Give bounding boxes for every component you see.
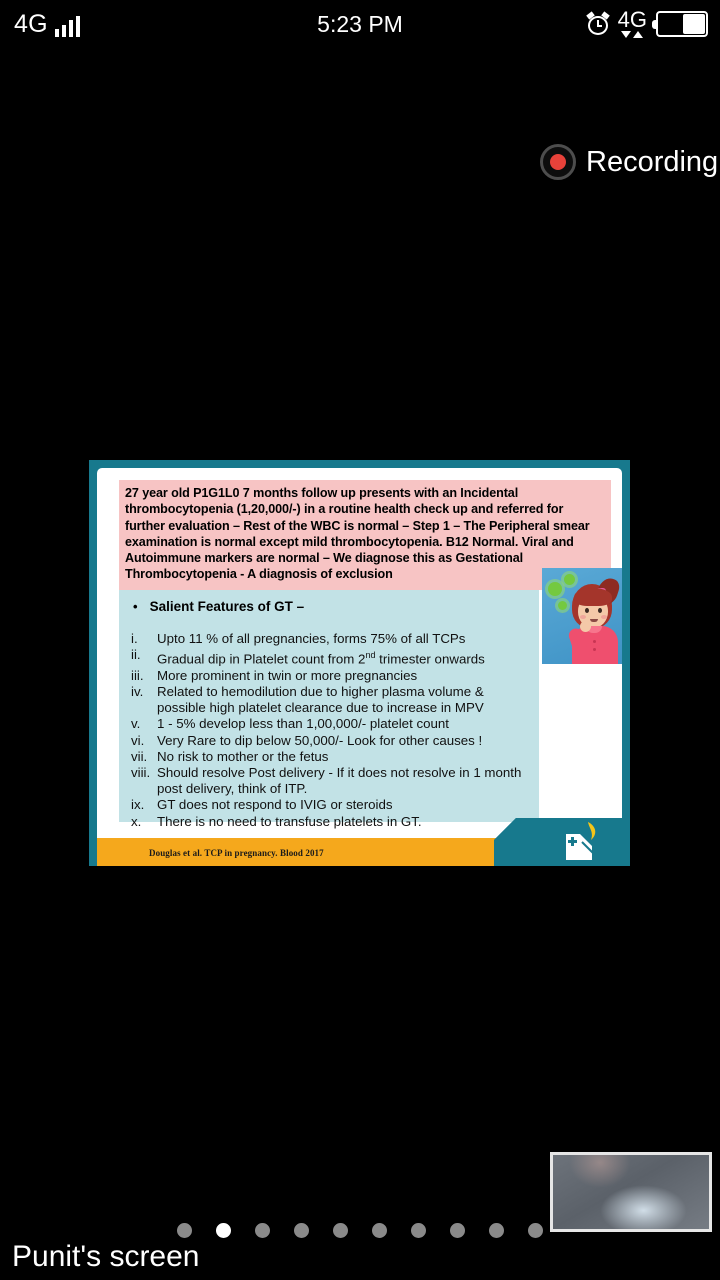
slide-header-text: 27 year old P1G1L0 7 months follow up pr… xyxy=(125,485,605,583)
page-dot[interactable] xyxy=(528,1223,543,1238)
page-dot[interactable] xyxy=(411,1223,426,1238)
list-item-text: More prominent in twin or more pregnanci… xyxy=(157,668,529,684)
list-item: i.Upto 11 % of all pregnancies, forms 75… xyxy=(129,631,529,647)
list-item: ii.Gradual dip in Platelet count from 2n… xyxy=(129,647,529,668)
list-item: vi.Very Rare to dip below 50,000/- Look … xyxy=(129,733,529,749)
list-item: v.1 - 5% develop less than 1,00,000/- pl… xyxy=(129,716,529,732)
page-dot[interactable] xyxy=(177,1223,192,1238)
list-item-text: 1 - 5% develop less than 1,00,000/- plat… xyxy=(157,716,529,732)
list-item-number: v. xyxy=(129,716,157,732)
recording-label: Recording xyxy=(586,148,718,177)
page-dot[interactable] xyxy=(372,1223,387,1238)
screen-share-label: Punit's screen xyxy=(12,1240,200,1274)
slide-body-box: • Salient Features of GT – i.Upto 11 % o… xyxy=(119,590,539,822)
page-dot[interactable] xyxy=(489,1223,504,1238)
list-item-text: Gradual dip in Platelet count from 2nd t… xyxy=(157,647,529,668)
list-item: iv.Related to hemodilution due to higher… xyxy=(129,684,529,716)
cartoon-girl-thinking-icon xyxy=(542,568,622,664)
page-dot[interactable] xyxy=(450,1223,465,1238)
list-item-number: ix. xyxy=(129,797,157,813)
list-item-text: No risk to mother or the fetus xyxy=(157,749,529,765)
slide-canvas: 27 year old P1G1L0 7 months follow up pr… xyxy=(97,468,622,866)
slide-body-title-text: Salient Features of GT – xyxy=(150,598,305,615)
mobile-data-icon: 4G xyxy=(618,10,647,38)
shared-slide[interactable]: 27 year old P1G1L0 7 months follow up pr… xyxy=(89,460,630,866)
list-item-number: x. xyxy=(129,814,157,830)
camera-preview-thumbnail[interactable] xyxy=(550,1152,712,1232)
list-item-text: GT does not respond to IVIG or steroids xyxy=(157,797,529,813)
phone-screen: 4G 5:23 PM 4G Recording 27 year ol xyxy=(0,0,720,1280)
list-item-number: iii. xyxy=(129,668,157,684)
status-bar-right: 4G xyxy=(587,10,708,38)
list-item-text: Upto 11 % of all pregnancies, forms 75% … xyxy=(157,631,529,647)
data-transfer-arrows-icon xyxy=(621,31,643,38)
list-item-number: vi. xyxy=(129,733,157,749)
list-item-number: vii. xyxy=(129,749,157,765)
list-item-number: iv. xyxy=(129,684,157,716)
network-type-label-right: 4G xyxy=(618,10,647,30)
list-item: vii.No risk to mother or the fetus xyxy=(129,749,529,765)
page-dot[interactable] xyxy=(216,1223,231,1238)
list-item-text: There is no need to transfuse platelets … xyxy=(157,814,529,830)
institution-torch-logo-icon xyxy=(558,820,604,864)
list-item-text: Should resolve Post delivery - If it doe… xyxy=(157,765,529,797)
list-item-text: Very Rare to dip below 50,000/- Look for… xyxy=(157,733,529,749)
slide-header-box: 27 year old P1G1L0 7 months follow up pr… xyxy=(119,480,611,590)
list-item: x.There is no need to transfuse platelet… xyxy=(129,814,529,830)
list-item: viii.Should resolve Post delivery - If i… xyxy=(129,765,529,797)
status-bar: 4G 5:23 PM 4G xyxy=(0,0,720,48)
page-dot[interactable] xyxy=(294,1223,309,1238)
page-dot[interactable] xyxy=(333,1223,348,1238)
page-dot[interactable] xyxy=(255,1223,270,1238)
list-item: iii.More prominent in twin or more pregn… xyxy=(129,668,529,684)
list-item-number: viii. xyxy=(129,765,157,797)
list-item: ix.GT does not respond to IVIG or steroi… xyxy=(129,797,529,813)
record-dot-icon xyxy=(540,144,576,180)
recording-indicator[interactable]: Recording xyxy=(540,144,718,180)
list-item-number: i. xyxy=(129,631,157,647)
bullet-marker-icon: • xyxy=(133,598,138,615)
battery-icon xyxy=(656,11,708,37)
alarm-clock-icon xyxy=(587,13,609,35)
slide-bullet-list: i.Upto 11 % of all pregnancies, forms 75… xyxy=(129,631,529,830)
slide-citation: Douglas et al. TCP in pregnancy. Blood 2… xyxy=(149,848,324,859)
slide-body-title: • Salient Features of GT – xyxy=(129,598,529,615)
list-item-number: ii. xyxy=(129,647,157,668)
list-item-text: Related to hemodilution due to higher pl… xyxy=(157,684,529,716)
page-indicator-dots[interactable] xyxy=(0,1223,720,1238)
